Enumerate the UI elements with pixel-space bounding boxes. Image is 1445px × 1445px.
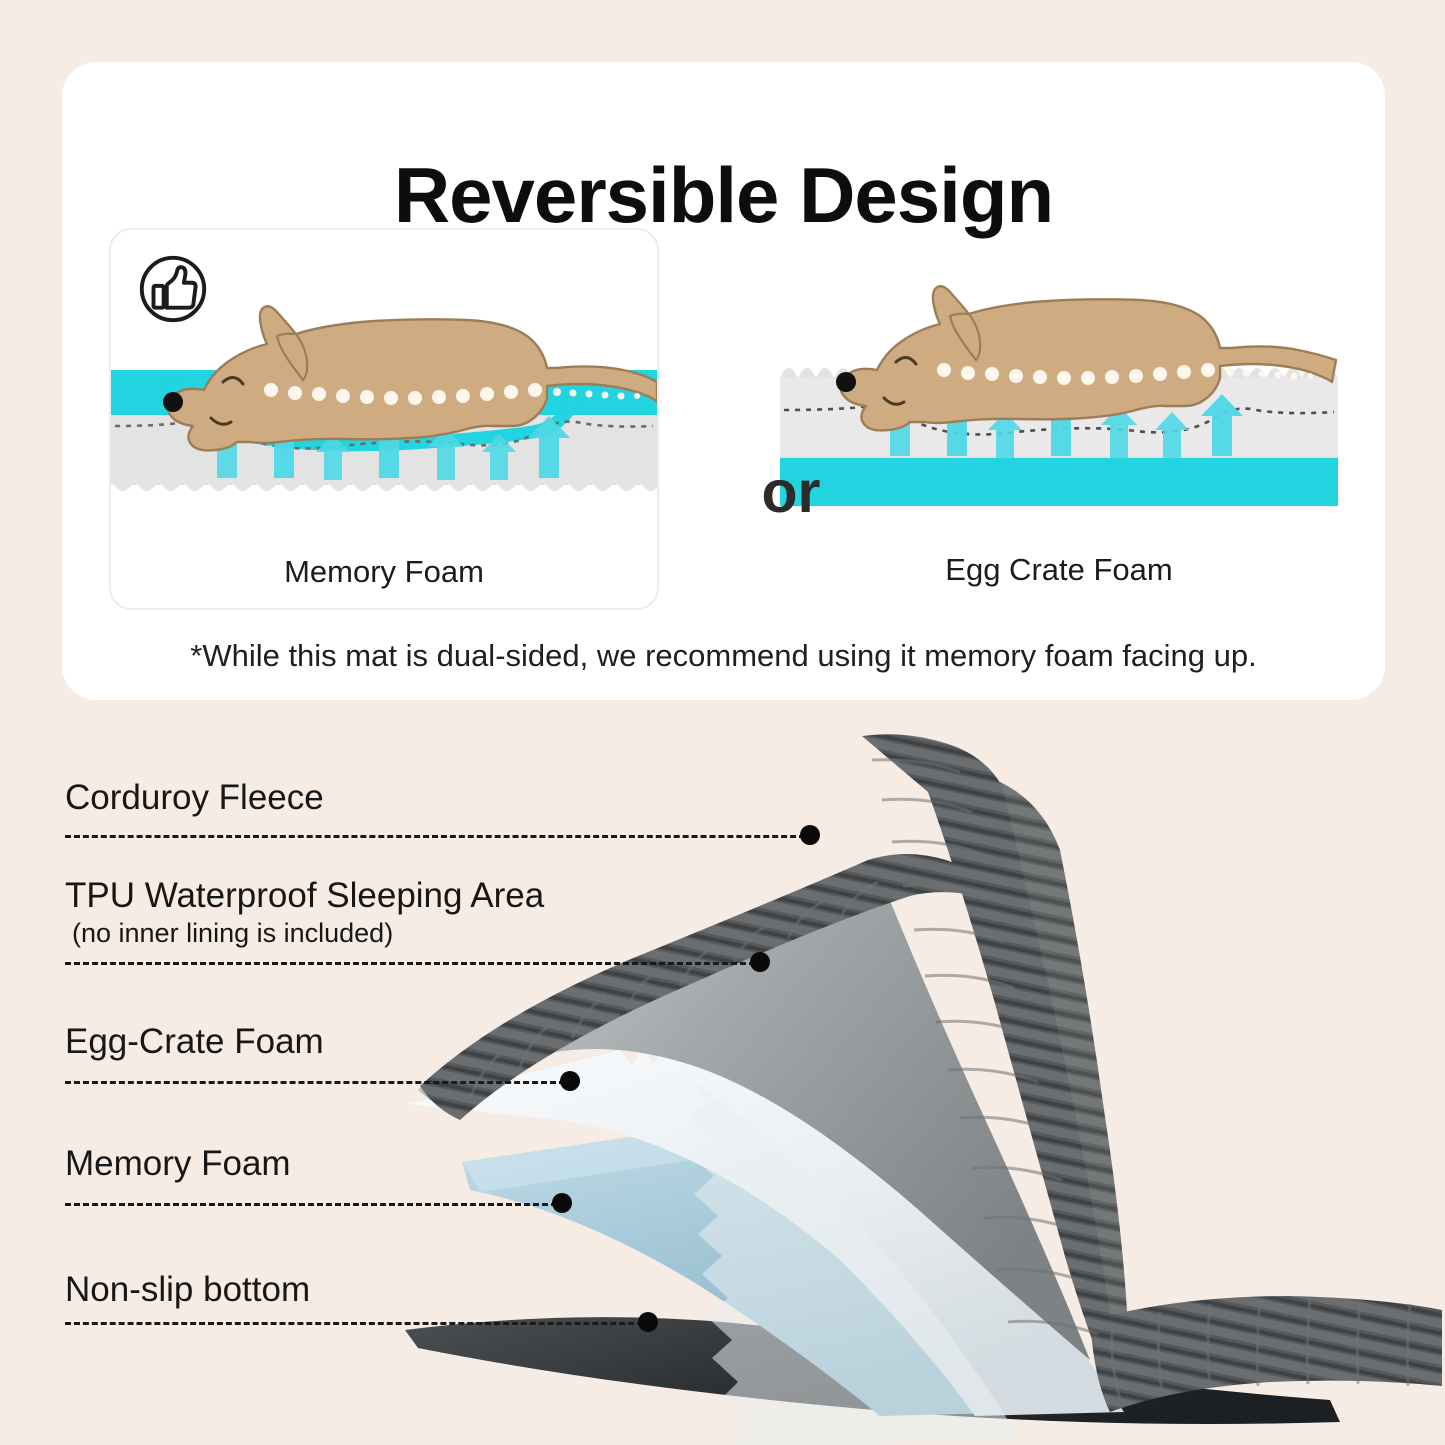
- leader-dot-memory-foam: [552, 1193, 572, 1213]
- callout-label-corduroy-fleece: Corduroy Fleece: [65, 778, 324, 818]
- leader-dot-tpu-waterproof: [750, 952, 770, 972]
- callout-label-tpu-waterproof: TPU Waterproof Sleeping Area: [65, 876, 544, 916]
- footnote-text: *While this mat is dual-sided, we recomm…: [62, 638, 1385, 674]
- leader-line-memory-foam: [65, 1203, 557, 1206]
- panel-egg-crate-foam: Egg Crate Foam: [780, 228, 1338, 606]
- or-divider-label: or: [741, 458, 841, 526]
- reversible-design-card: Reversible Design: [62, 62, 1385, 700]
- corduroy-fleece-bolster: [1090, 1296, 1442, 1412]
- leader-dot-non-slip-bottom: [638, 1312, 658, 1332]
- leader-line-corduroy-fleece: [65, 835, 805, 838]
- memory-foam-layer: [780, 458, 1338, 506]
- memory-foam-illustration: [111, 230, 657, 530]
- panel-memory-foam: Memory Foam: [109, 228, 659, 610]
- panel-caption-egg-crate-foam: Egg Crate Foam: [780, 552, 1338, 588]
- leader-dot-egg-crate-foam: [560, 1071, 580, 1091]
- callout-sublabel-tpu-waterproof: (no inner lining is included): [72, 918, 393, 949]
- leader-line-non-slip-bottom: [65, 1322, 643, 1325]
- panel-caption-memory-foam: Memory Foam: [111, 554, 657, 590]
- callout-label-non-slip-bottom: Non-slip bottom: [65, 1270, 310, 1310]
- egg-crate-foam-illustration: [780, 228, 1338, 528]
- dog-nose: [163, 392, 183, 412]
- product-layers-section: Corduroy Fleece TPU Waterproof Sleeping …: [0, 700, 1445, 1445]
- leader-dot-corduroy-fleece: [800, 825, 820, 845]
- callout-label-egg-crate-foam: Egg-Crate Foam: [65, 1022, 324, 1062]
- leader-line-tpu-waterproof: [65, 962, 755, 965]
- dog-nose: [836, 372, 856, 392]
- leader-line-egg-crate-foam: [65, 1081, 565, 1084]
- callout-label-memory-foam: Memory Foam: [65, 1144, 291, 1184]
